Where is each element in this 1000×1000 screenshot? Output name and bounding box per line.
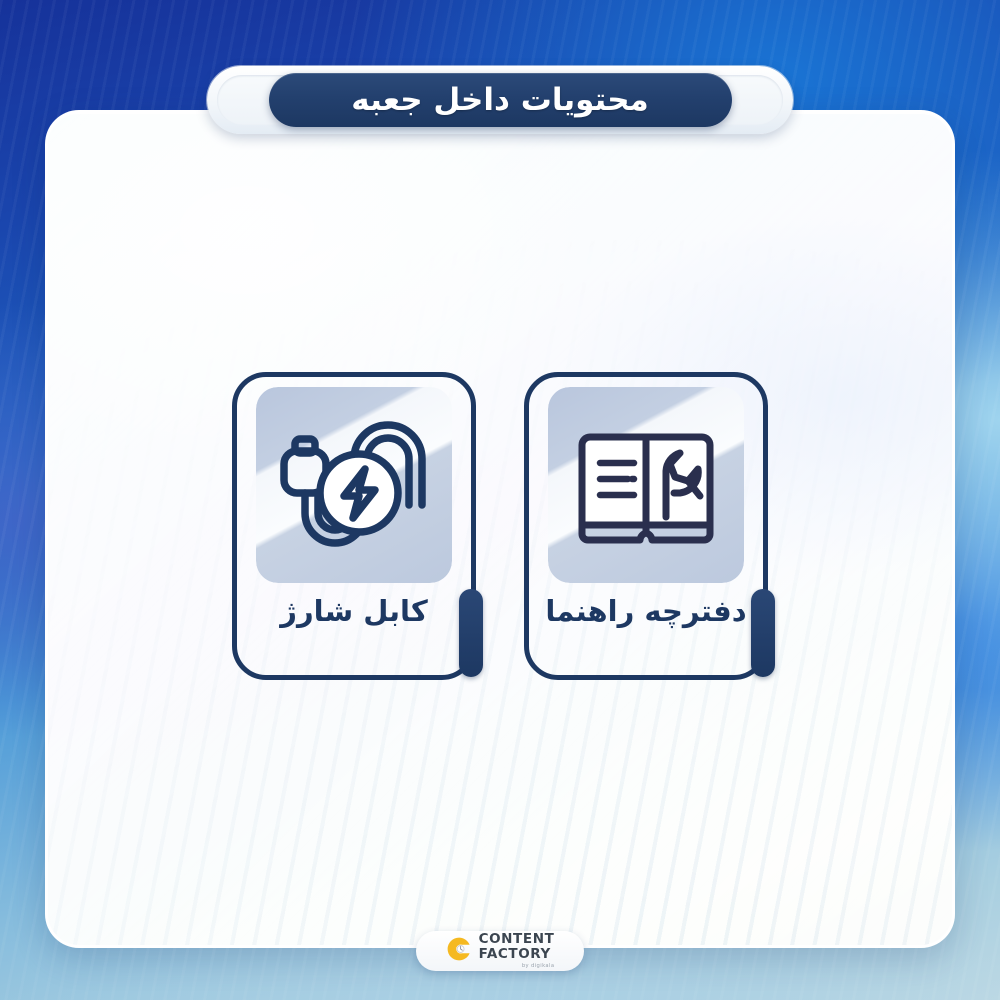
charging-cable-icon <box>256 387 452 583</box>
card-label: دفترچه راهنما <box>545 597 746 626</box>
card-bookmark-tab <box>459 589 483 677</box>
manual-book-wrench-icon <box>548 387 744 583</box>
brand-logo-badge[interactable]: CONTENT FACTORY by digikala <box>416 931 584 971</box>
box-contents-list: کابل شارژ <box>0 372 1000 680</box>
title-pill-outer: محتویات داخل جعبه <box>207 66 793 134</box>
content-card-charging-cable[interactable]: کابل شارژ <box>232 372 476 680</box>
c-monogram-icon <box>446 936 472 966</box>
brand-logo-text: CONTENT FACTORY by digikala <box>479 933 555 969</box>
title-pill-inner: محتویات داخل جعبه <box>269 73 732 127</box>
page-title: محتویات داخل جعبه <box>351 85 648 116</box>
brand-line-2: FACTORY <box>479 948 555 962</box>
card-label: کابل شارژ <box>280 597 427 626</box>
content-card-user-manual[interactable]: دفترچه راهنما <box>524 372 768 680</box>
brand-subtext: by digikala <box>522 964 555 969</box>
title-banner: محتویات داخل جعبه <box>207 66 793 134</box>
poster-stage: محتویات داخل جعبه <box>0 0 1000 1000</box>
brand-line-1: CONTENT <box>479 933 555 947</box>
card-bookmark-tab <box>751 589 775 677</box>
